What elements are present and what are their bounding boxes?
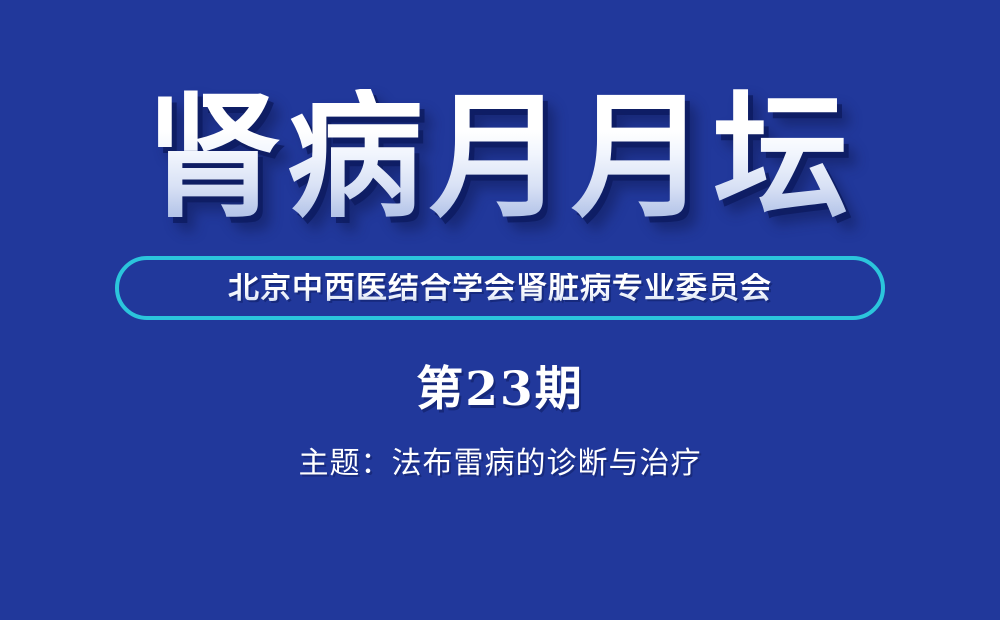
theme-line: 主题：法布雷病的诊断与治疗 <box>0 444 1000 484</box>
organization-pill: 北京中西医结合学会肾脏病专业委员会 <box>115 256 885 320</box>
brand-title: 肾病月月坛 <box>145 89 855 225</box>
organization-name: 北京中西医结合学会肾脏病专业委员会 <box>228 273 772 304</box>
brand-title-container: 肾病月月坛 <box>0 78 1000 236</box>
poster-slide: 肾病月月坛 北京中西医结合学会肾脏病专业委员会 第23期 主题：法布雷病的诊断与… <box>0 0 1000 620</box>
issue-number: 第23期 <box>0 362 1000 418</box>
